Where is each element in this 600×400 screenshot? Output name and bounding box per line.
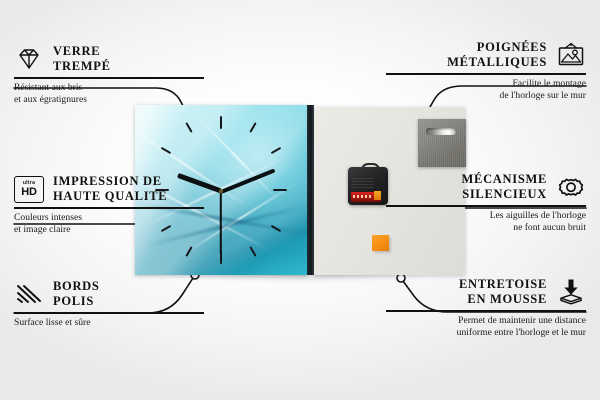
clock-tick [220, 116, 222, 129]
hands-center-cap [219, 189, 223, 193]
feature-header: MÉCANISME SILENCIEUX [386, 172, 586, 202]
second-hand [220, 191, 222, 253]
feature-divider [14, 312, 204, 314]
metal-hanger-plate [418, 119, 466, 167]
clock-tick [273, 189, 287, 191]
feature-header: ultra HD IMPRESSION DE HAUTE QUALITÉ [14, 174, 214, 204]
hd-badge-main-label: HD [21, 187, 37, 198]
clock-movement [348, 163, 388, 205]
feature-description: Couleurs intenses et image claire [14, 212, 214, 237]
feature-description: Surface lisse et sûre [14, 317, 214, 329]
feature-header: VERRE TREMPÉ [14, 44, 214, 74]
foam-spacer-icon [556, 277, 586, 307]
feature-title: POIGNÉES MÉTALLIQUES [447, 40, 547, 70]
feature-divider [14, 207, 204, 209]
polished-edges-icon [14, 279, 44, 309]
feature-title: MÉCANISME SILENCIEUX [462, 172, 547, 202]
feature-description: Facilite le montage de l'horloge sur le … [386, 78, 586, 103]
feature-verre-trempe: VERRE TREMPÉ Résistant aux bris et aux é… [14, 44, 214, 106]
picture-frame-icon [556, 40, 586, 70]
feature-divider [386, 310, 586, 312]
battery-terminal [374, 191, 381, 200]
feature-title: BORDS POLIS [53, 279, 100, 309]
feature-entretoise-en-mousse: ENTRETOISE EN MOUSSE Permet de maintenir… [386, 277, 586, 339]
feature-poignees-metalliques: POIGNÉES MÉTALLIQUES Facilite le montage… [386, 40, 586, 102]
feature-description: Résistant aux bris et aux égratignures [14, 82, 214, 107]
feature-bords-polis: BORDS POLIS Surface lisse et sûre [14, 279, 214, 329]
ultra-hd-icon: ultra HD [14, 174, 44, 204]
feature-title: VERRE TREMPÉ [53, 44, 111, 74]
feature-description: Permet de maintenir une distance uniform… [386, 315, 586, 340]
feature-header: ENTRETOISE EN MOUSSE [386, 277, 586, 307]
hanger-keyhole-slot [426, 128, 456, 135]
diamond-icon [14, 44, 44, 74]
feature-divider [386, 205, 586, 207]
hd-badge: ultra HD [14, 176, 44, 203]
feature-title: ENTRETOISE EN MOUSSE [459, 277, 547, 307]
feature-description: Les aiguilles de l'horloge ne font aucun… [386, 210, 586, 235]
movement-body [348, 167, 388, 205]
feature-mecanisme-silencieux: MÉCANISME SILENCIEUX Les aiguilles de l'… [386, 172, 586, 234]
feature-header: POIGNÉES MÉTALLIQUES [386, 40, 586, 70]
foam-spacer-pad [372, 235, 389, 251]
feature-impression-haute-qualite: ultra HD IMPRESSION DE HAUTE QUALITÉ Cou… [14, 174, 214, 236]
hd-badge-ultra-label: ultra [23, 181, 35, 186]
battery [351, 192, 381, 202]
feature-divider [386, 73, 586, 75]
feature-header: BORDS POLIS [14, 279, 214, 309]
battery-label [353, 195, 373, 198]
feature-title: IMPRESSION DE HAUTE QUALITÉ [53, 174, 167, 204]
clock-side-edge [307, 105, 314, 275]
movement-vents [352, 177, 374, 188]
gear-icon [556, 172, 586, 202]
product-infographic: VERRE TREMPÉ Résistant aux bris et aux é… [0, 0, 600, 400]
feature-divider [14, 77, 204, 79]
